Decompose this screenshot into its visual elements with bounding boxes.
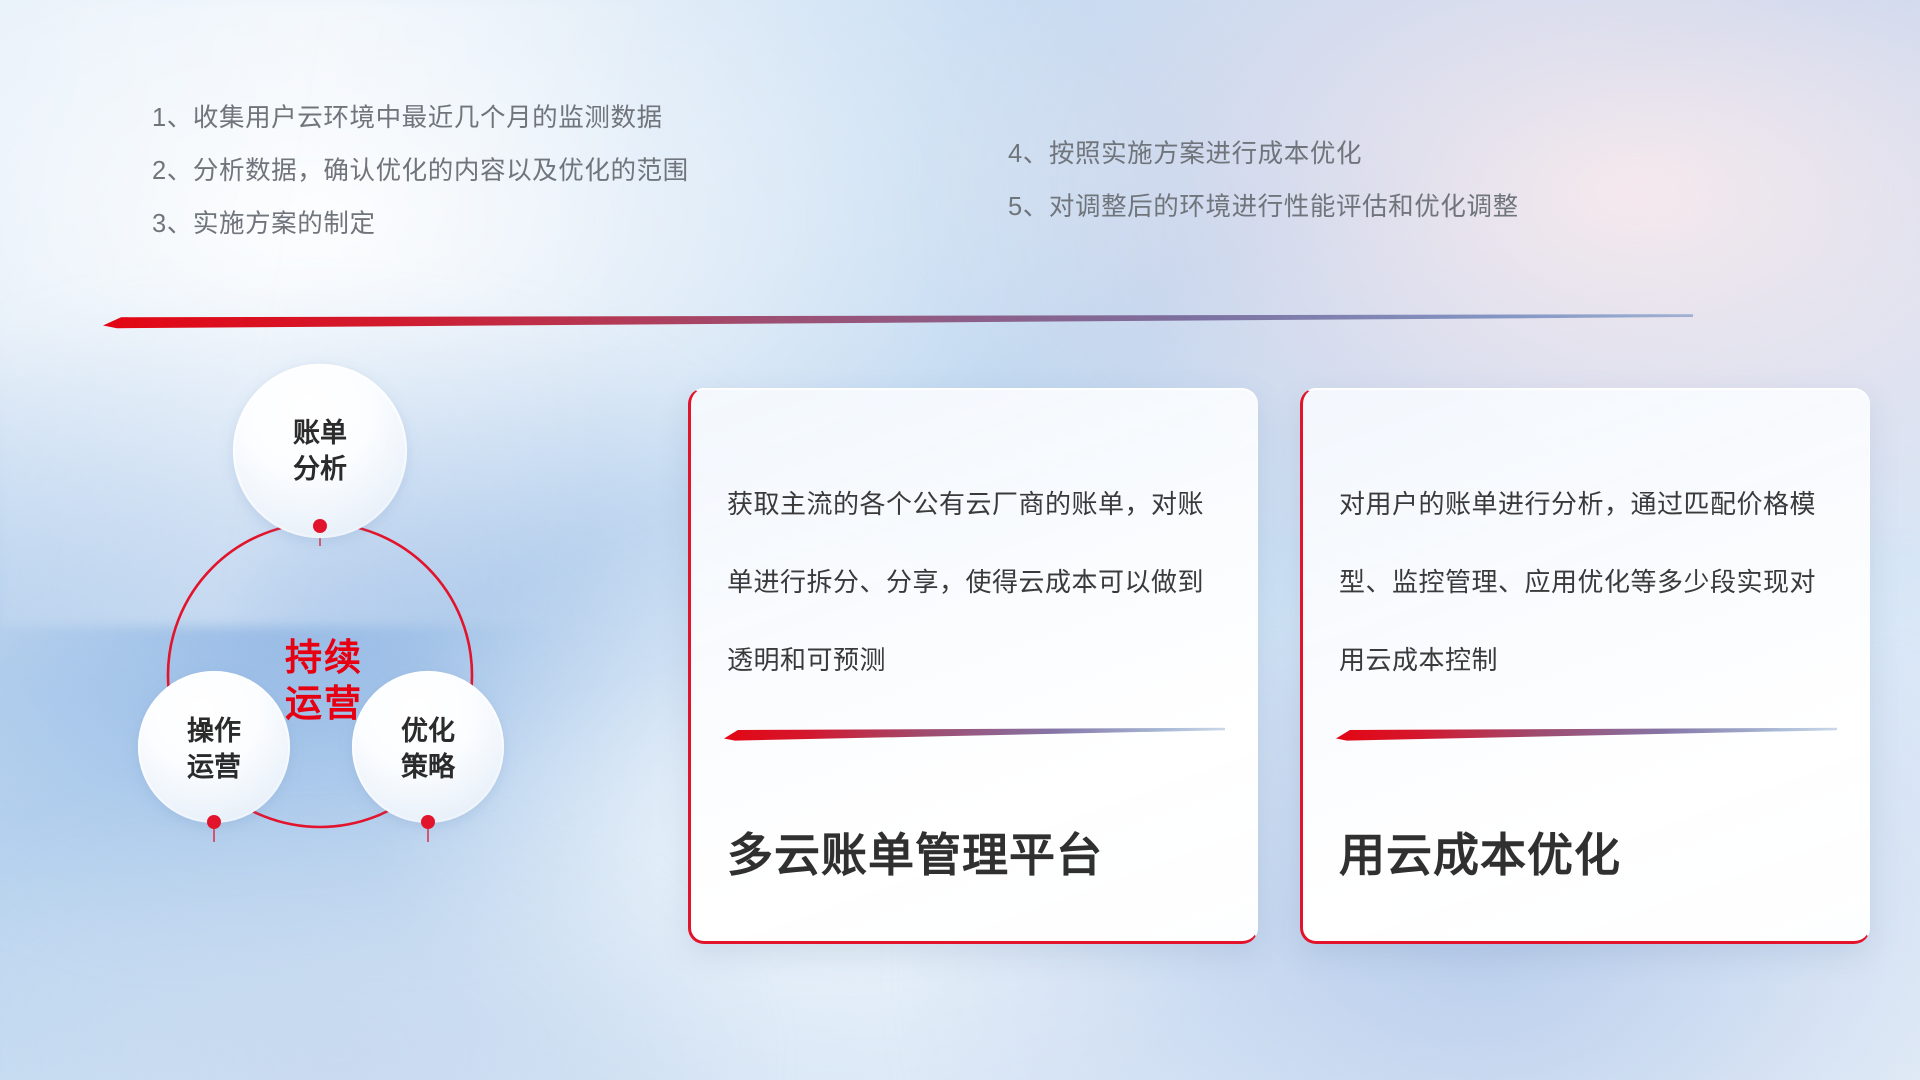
card-divider [724, 727, 1225, 741]
diagram-center-label-line1: 持续 [285, 637, 363, 678]
step-item-4: 4、按照实施方案进行成本优化 [1008, 154, 1519, 155]
step-item-1: 1、收集用户云环境中最近几个月的监测数据 [152, 118, 689, 119]
diagram-node-operations[interactable]: 操作 运营 [138, 671, 290, 823]
card-cloud-cost-optimization[interactable]: 对用户的账单进行分析，通过匹配价格模型、监控管理、应用优化等多少段实现对用云成本… [1300, 388, 1870, 944]
diagram-center-label-line2: 运营 [285, 683, 363, 724]
step-item-5: 5、对调整后的环境进行性能评估和优化调整 [1008, 207, 1519, 208]
card-title: 多云账单管理平台 [727, 819, 1233, 885]
continuous-operation-diagram: 账单 分析 操作 运营 优化 策略 持续 运营 [98, 350, 658, 950]
node-dot-top [313, 519, 327, 533]
node-dot-right [421, 815, 435, 829]
steps-right-column: 4、按照实施方案进行成本优化 5、对调整后的环境进行性能评估和优化调整 [1008, 154, 1519, 208]
card-body-text: 对用户的账单进行分析，通过匹配价格模型、监控管理、应用优化等多少段实现对用云成本… [1339, 465, 1839, 699]
node-label-line1: 优化 [401, 716, 455, 746]
diagram-node-billing-analysis[interactable]: 账单 分析 [233, 364, 407, 538]
card-multi-cloud-billing-platform[interactable]: 获取主流的各个公有云厂商的账单，对账单进行拆分、分享，使得云成本可以做到透明和可… [688, 388, 1258, 944]
step-item-3: 3、实施方案的制定 [152, 224, 689, 225]
node-label-line2: 分析 [293, 454, 347, 484]
step-item-2: 2、分析数据，确认优化的内容以及优化的范围 [152, 171, 689, 172]
card-divider [1336, 727, 1837, 741]
node-label-line1: 账单 [293, 418, 347, 448]
steps-left-column: 1、收集用户云环境中最近几个月的监测数据 2、分析数据，确认优化的内容以及优化的… [152, 118, 689, 225]
diagram-node-optimization-strategy[interactable]: 优化 策略 [352, 671, 504, 823]
node-label-line2: 运营 [187, 752, 241, 782]
node-label-line2: 策略 [401, 751, 456, 782]
node-dot-left [207, 815, 221, 829]
node-label-line1: 操作 [187, 716, 241, 746]
card-title: 用云成本优化 [1339, 819, 1845, 885]
section-divider [103, 313, 1693, 329]
card-body-text: 获取主流的各个公有云厂商的账单，对账单进行拆分、分享，使得云成本可以做到透明和可… [727, 465, 1227, 699]
